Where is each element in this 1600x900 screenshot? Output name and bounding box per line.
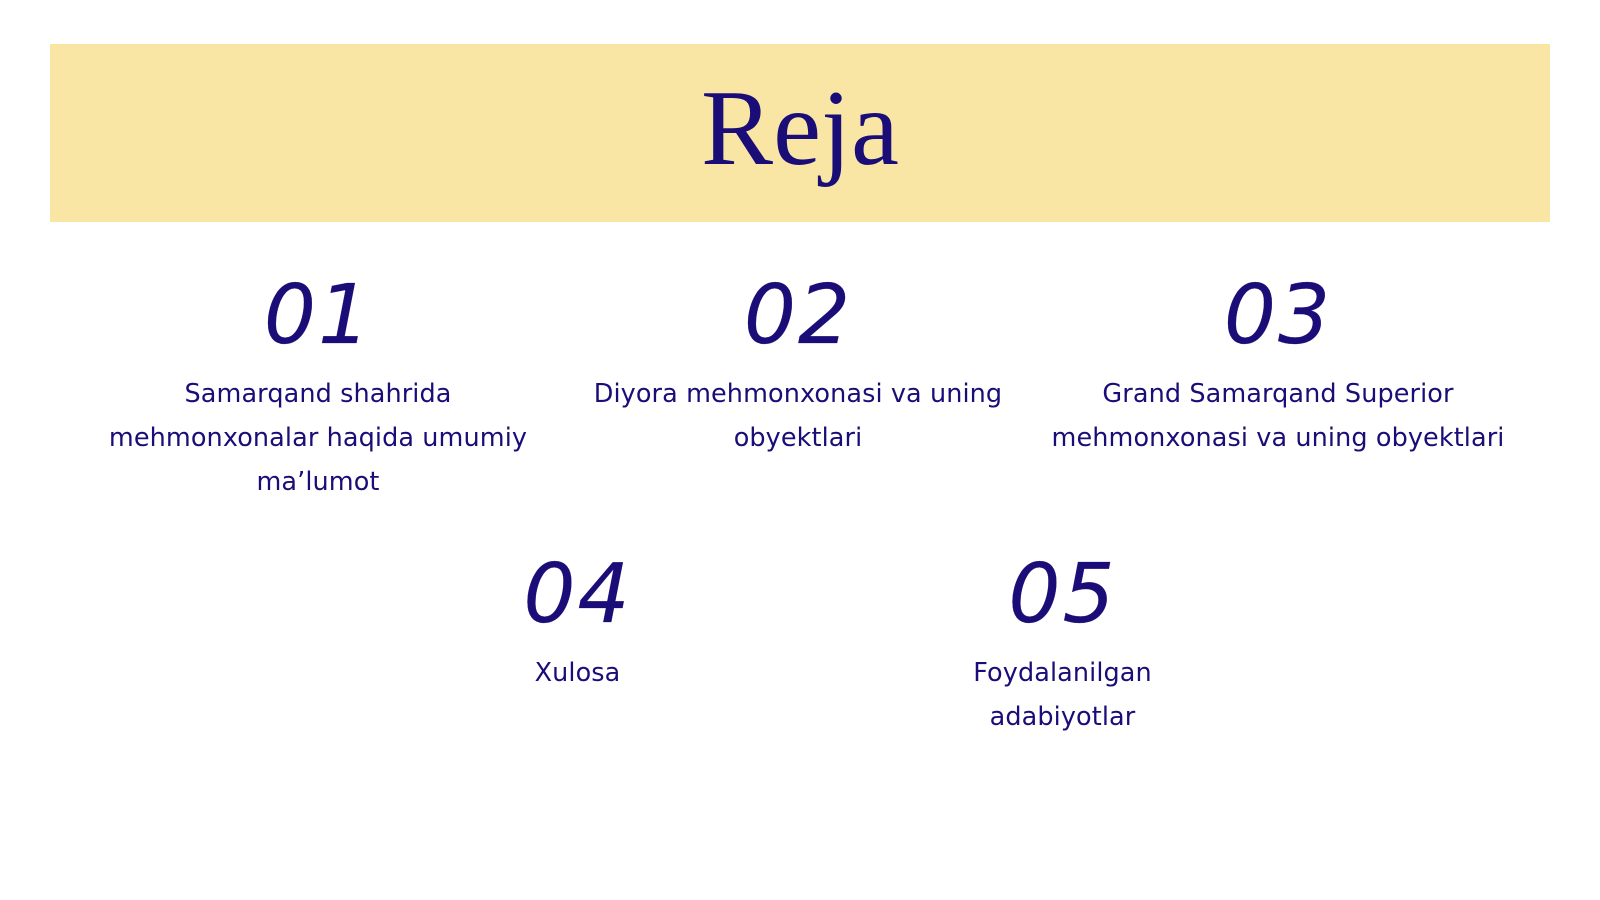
agenda-item-number: 03 bbox=[1224, 270, 1332, 362]
agenda-item-number: 04 bbox=[523, 549, 631, 641]
page-title: Reja bbox=[701, 75, 899, 191]
agenda-item-04[interactable]: 04 Xulosa bbox=[343, 549, 813, 739]
title-banner: Reja bbox=[50, 44, 1550, 222]
agenda-item-label: Foydalanilgan adabiyotlar bbox=[898, 651, 1228, 739]
agenda-item-03[interactable]: 03 Grand Samarqand Superior mehmonxonasi… bbox=[1038, 270, 1518, 504]
agenda-item-label: Grand Samarqand Superior mehmonxonasi va… bbox=[1048, 372, 1508, 460]
agenda-item-05[interactable]: 05 Foydalanilgan adabiyotlar bbox=[828, 549, 1298, 739]
agenda-item-number: 05 bbox=[1008, 549, 1116, 641]
agenda-item-label: Diyora mehmonxonasi va uning obyektlari bbox=[568, 372, 1028, 460]
agenda-item-number: 01 bbox=[264, 270, 372, 362]
agenda-row-top: 01 Samarqand shahrida mehmonxonalar haqi… bbox=[0, 270, 1600, 504]
agenda-list: 01 Samarqand shahrida mehmonxonalar haqi… bbox=[0, 270, 1600, 739]
presentation-slide: Reja 01 Samarqand shahrida mehmonxonalar… bbox=[0, 0, 1600, 900]
agenda-item-label: Xulosa bbox=[535, 651, 621, 695]
agenda-item-02[interactable]: 02 Diyora mehmonxonasi va uning obyektla… bbox=[558, 270, 1038, 504]
agenda-item-01[interactable]: 01 Samarqand shahrida mehmonxonalar haqi… bbox=[78, 270, 558, 504]
agenda-item-number: 02 bbox=[744, 270, 852, 362]
agenda-row-bottom: 04 Xulosa 05 Foydalanilgan adabiyotlar bbox=[0, 549, 1600, 739]
agenda-item-label: Samarqand shahrida mehmonxonalar haqida … bbox=[88, 372, 548, 504]
